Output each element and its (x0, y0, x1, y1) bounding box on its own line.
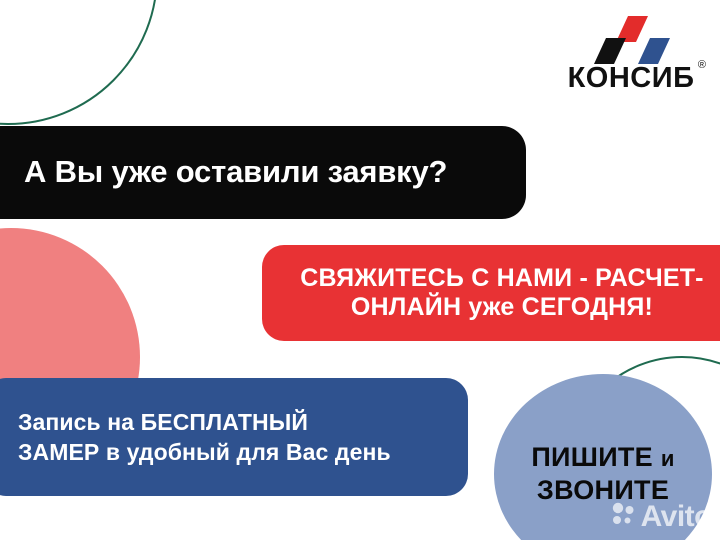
blue-callout-text: Запись на БЕСПЛАТНЫЙ ЗАМЕР в удобный для… (18, 407, 391, 468)
headline-block: А Вы уже оставили заявку? (0, 126, 526, 219)
registered-trademark-icon: ® (698, 60, 707, 71)
avito-watermark: Avito (611, 501, 712, 532)
headline-text: А Вы уже оставили заявку? (24, 155, 447, 189)
red-callout-block: СВЯЖИТЕСЬ С НАМИ - РАСЧЕТ- ОНЛАЙН уже СЕ… (262, 245, 720, 341)
decorative-ring-top-left-icon (0, 0, 158, 125)
logo-wordmark-text: КОНСИБ (568, 62, 695, 94)
brand-logo: КОНСИБ ® (556, 16, 706, 93)
promo-banner: КОНСИБ ® А Вы уже оставили заявку? СВЯЖИ… (0, 0, 720, 540)
avito-wordmark: Avito (641, 502, 712, 532)
logo-wordmark: КОНСИБ ® (568, 64, 695, 93)
blue-callout-line2: ЗАМЕР в удобный для Вас день (18, 439, 391, 465)
red-callout-line2-part1: ОНЛАЙН (351, 293, 461, 321)
blue-callout-line1: Запись на БЕСПЛАТНЫЙ (18, 409, 308, 435)
circle-callout-line1-conj: и (661, 446, 675, 471)
circle-callout-line1-strong: ПИШИТЕ (531, 442, 653, 472)
red-callout-line2-part2: уже (468, 293, 514, 321)
red-callout-line1: СВЯЖИТЕСЬ С НАМИ - РАСЧЕТ- (300, 264, 703, 292)
red-callout-line2-part3: СЕГОДНЯ! (522, 293, 653, 321)
blue-callout-block: Запись на БЕСПЛАТНЫЙ ЗАМЕР в удобный для… (0, 378, 468, 496)
red-callout-text: СВЯЖИТЕСЬ С НАМИ - РАСЧЕТ- ОНЛАЙН уже СЕ… (284, 264, 720, 323)
avito-dots-icon (611, 501, 637, 532)
circle-callout-line1: ПИШИТЕ и (531, 441, 674, 474)
logo-mark-icon (556, 16, 706, 64)
